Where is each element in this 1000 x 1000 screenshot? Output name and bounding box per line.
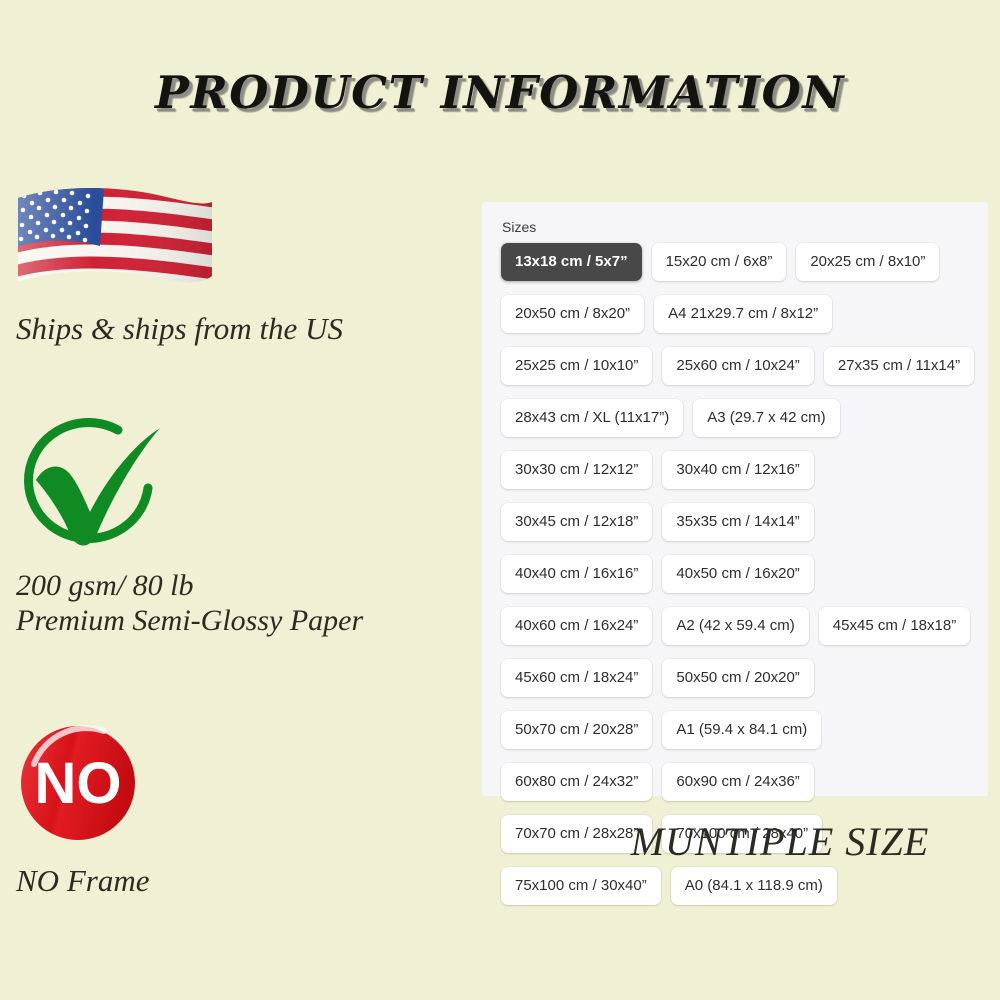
size-option-chip[interactable]: 27x35 cm / 11x14”	[824, 347, 974, 385]
sizes-label: Sizes	[502, 219, 536, 235]
size-option-chip[interactable]: 13x18 cm / 5x7”	[501, 243, 642, 281]
size-option-chip[interactable]: 60x80 cm / 24x32”	[501, 763, 652, 801]
size-option-chip[interactable]: A4 21x29.7 cm / 8x12”	[654, 295, 832, 333]
size-option-chip[interactable]: 25x25 cm / 10x10”	[501, 347, 652, 385]
size-option-chip[interactable]: 60x90 cm / 24x36”	[662, 763, 813, 801]
green-check-icon	[14, 410, 480, 560]
size-option-chip[interactable]: A1 (59.4 x 84.1 cm)	[662, 711, 821, 749]
size-option-chip[interactable]: A2 (42 x 59.4 cm)	[662, 607, 808, 645]
size-option-chip[interactable]: 20x50 cm / 8x20”	[501, 295, 644, 333]
size-option-chip[interactable]: 35x35 cm / 14x14”	[662, 503, 813, 541]
feature-caption-no-frame: NO Frame	[16, 863, 480, 900]
size-option-chip[interactable]: 50x50 cm / 20x20”	[662, 659, 813, 697]
sizes-panel: Sizes 13x18 cm / 5x7”15x20 cm / 6x8”20x2…	[482, 202, 988, 796]
page-title: PRODUCT INFORMATION	[0, 66, 1000, 119]
us-flag-icon	[12, 180, 480, 303]
size-option-chip[interactable]: 30x45 cm / 12x18”	[501, 503, 652, 541]
features-column: Ships & ships from the US 200 gsm/ 80 lb…	[0, 180, 480, 920]
size-option-chip[interactable]: 75x100 cm / 30x40”	[501, 867, 661, 905]
size-option-chip[interactable]: 30x30 cm / 12x12”	[501, 451, 652, 489]
size-option-chip[interactable]: A0 (84.1 x 118.9 cm)	[671, 867, 837, 905]
size-option-chip[interactable]: 15x20 cm / 6x8”	[652, 243, 787, 281]
size-option-chip[interactable]: 40x40 cm / 16x16”	[501, 555, 652, 593]
size-option-chip[interactable]: 28x43 cm / XL (11x17”)	[501, 399, 683, 437]
size-option-chip[interactable]: 45x60 cm / 18x24”	[501, 659, 652, 697]
size-option-chip[interactable]: 45x45 cm / 18x18”	[819, 607, 970, 645]
feature-no-frame: NO NO Frame	[0, 720, 480, 900]
no-badge-text: NO	[35, 751, 122, 816]
size-option-chip[interactable]: 20x25 cm / 8x10”	[796, 243, 939, 281]
multiple-size-caption: MUNTIPLE SIZE	[570, 818, 990, 865]
size-option-chip[interactable]: 40x50 cm / 16x20”	[662, 555, 813, 593]
size-option-chip[interactable]: 25x60 cm / 10x24”	[662, 347, 813, 385]
size-option-chip[interactable]: 50x70 cm / 20x28”	[501, 711, 652, 749]
size-option-chip[interactable]: A3 (29.7 x 42 cm)	[693, 399, 839, 437]
size-option-chip[interactable]: 40x60 cm / 16x24”	[501, 607, 652, 645]
feature-caption-paper: Premium Semi-Glossy Paper	[16, 603, 480, 638]
size-option-chip[interactable]: 30x40 cm / 12x16”	[662, 451, 813, 489]
feature-ships-from-us: Ships & ships from the US	[0, 180, 480, 348]
feature-caption-ships: Ships & ships from the US	[16, 311, 480, 348]
feature-paper-weight: 200 gsm/ 80 lb Premium Semi-Glossy Paper	[0, 410, 480, 639]
no-badge-icon: NO	[16, 720, 480, 855]
feature-caption-gsm: 200 gsm/ 80 lb	[16, 568, 480, 603]
